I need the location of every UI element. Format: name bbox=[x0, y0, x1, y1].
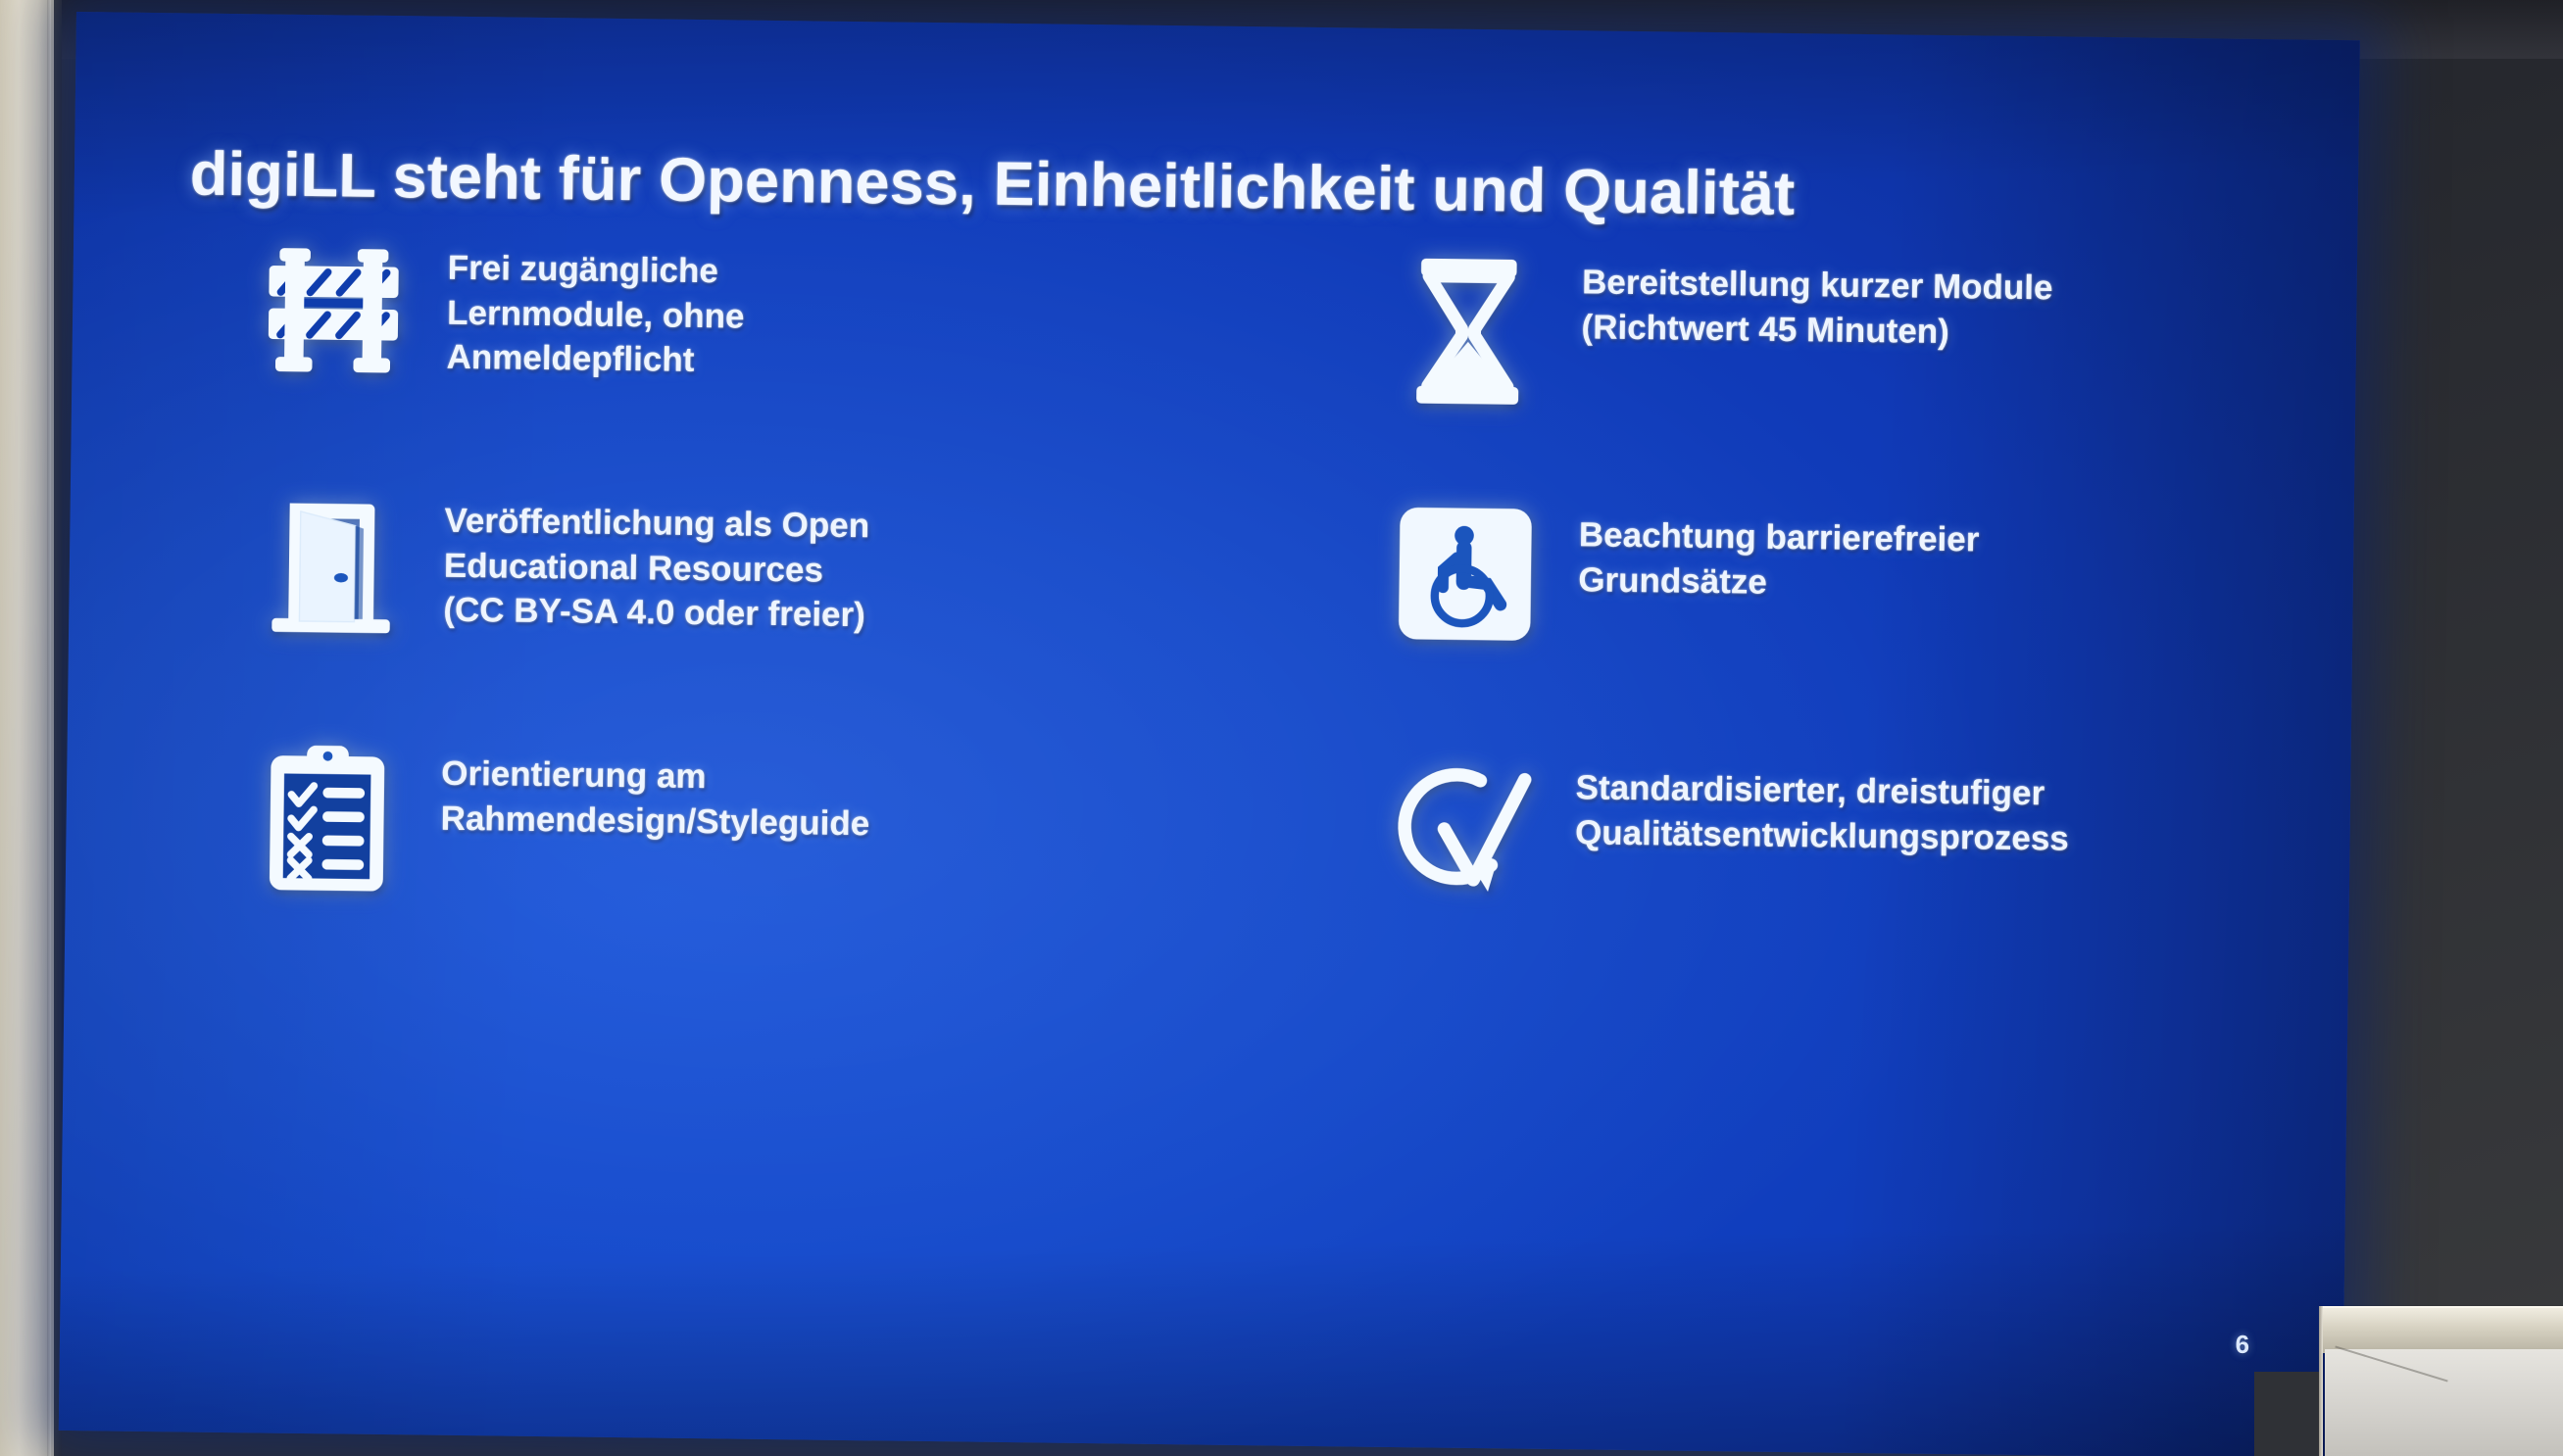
circular-arrow-check-icon bbox=[1386, 757, 1537, 904]
feature-text: Orientierung am Rahmendesign/Styleguide bbox=[440, 740, 870, 846]
bezel-bottom-sliver bbox=[2254, 1372, 2323, 1456]
feature-item: Standardisierter, dreistufiger Qualitäts… bbox=[1346, 751, 2351, 1016]
feature-line: Qualitätsentwicklungsprozess bbox=[1575, 810, 2069, 861]
feature-text: Beachtung barrierefreier Grundsätze bbox=[1578, 501, 1980, 607]
wall-seam bbox=[47, 0, 51, 1456]
wall-strip bbox=[0, 0, 54, 1456]
presentation-slide: digiLL steht für Openness, Einheitlichke… bbox=[59, 12, 2360, 1456]
flipchart-rail bbox=[2319, 1306, 2563, 1353]
feature-icon-cell bbox=[216, 484, 445, 640]
feature-icon-cell bbox=[213, 737, 442, 898]
feature-line: Frei zugängliche bbox=[447, 246, 745, 294]
left-column: Frei zugängliche Lernmodule, ohne Anmeld… bbox=[64, 229, 1222, 1002]
feature-line: Veröffentlichung als Open bbox=[444, 499, 869, 549]
feature-icon-cell bbox=[219, 231, 448, 387]
feature-line: Educational Resources bbox=[444, 543, 869, 593]
flipchart-paper bbox=[2325, 1349, 2563, 1456]
feature-line: Lernmodule, ohne bbox=[447, 290, 745, 338]
hourglass-icon bbox=[1406, 252, 1530, 407]
feature-line: Standardisierter, dreistufiger bbox=[1575, 765, 2069, 816]
feature-text: Standardisierter, dreistufiger Qualitäts… bbox=[1575, 753, 2070, 860]
feature-line: Bereitstellung kurzer Module bbox=[1582, 260, 2053, 311]
feature-item: Bereitstellung kurzer Module (Richtwert … bbox=[1352, 245, 2357, 510]
feature-line: (CC BY-SA 4.0 oder freier) bbox=[443, 588, 868, 638]
feature-text: Frei zugängliche Lernmodule, ohne Anmeld… bbox=[446, 234, 745, 383]
open-door-icon bbox=[261, 490, 400, 639]
flipchart-left-edge bbox=[2319, 1306, 2323, 1456]
projected-slide-container: digiLL steht für Openness, Einheitlichke… bbox=[59, 12, 2360, 1456]
feature-line: (Richtwert 45 Minuten) bbox=[1581, 305, 2052, 356]
feature-line: Beachtung barrierefreier bbox=[1579, 512, 1980, 562]
feature-item: Orientierung am Rahmendesign/Styleguide bbox=[211, 737, 1216, 1002]
page-title: digiLL steht für Openness, Einheitlichke… bbox=[189, 138, 2278, 235]
slide-page-number: 6 bbox=[2235, 1330, 2249, 1360]
clipboard-checklist-icon bbox=[264, 743, 391, 898]
feature-item: Beachtung barrierefreier Grundsätze bbox=[1349, 498, 2354, 763]
flipchart-corner bbox=[2319, 1306, 2563, 1456]
feature-text: Veröffentlichung als Open Educational Re… bbox=[443, 487, 870, 638]
feature-icon-cell bbox=[1354, 245, 1583, 407]
feature-icon-cell bbox=[1351, 498, 1580, 644]
feature-icon-cell bbox=[1347, 751, 1576, 904]
feature-item: Frei zugängliche Lernmodule, ohne Anmeld… bbox=[218, 231, 1223, 497]
wheelchair-accessibility-icon bbox=[1396, 505, 1535, 644]
feature-item: Veröffentlichung als Open Educational Re… bbox=[215, 484, 1220, 750]
feature-line: Grundsätze bbox=[1578, 558, 1979, 607]
photographed-room-scene: digiLL steht für Openness, Einheitlichke… bbox=[0, 0, 2563, 1456]
feature-line: Anmeldepflicht bbox=[446, 335, 744, 383]
road-barrier-icon bbox=[259, 237, 408, 386]
feature-columns: Frei zugängliche Lernmodule, ohne Anmeld… bbox=[64, 229, 2357, 1016]
feature-line: Orientierung am bbox=[441, 752, 870, 801]
feature-text: Bereitstellung kurzer Module (Richtwert … bbox=[1581, 248, 2053, 355]
feature-line: Rahmendesign/Styleguide bbox=[440, 796, 869, 846]
right-column: Bereitstellung kurzer Module (Richtwert … bbox=[1213, 244, 2357, 1016]
